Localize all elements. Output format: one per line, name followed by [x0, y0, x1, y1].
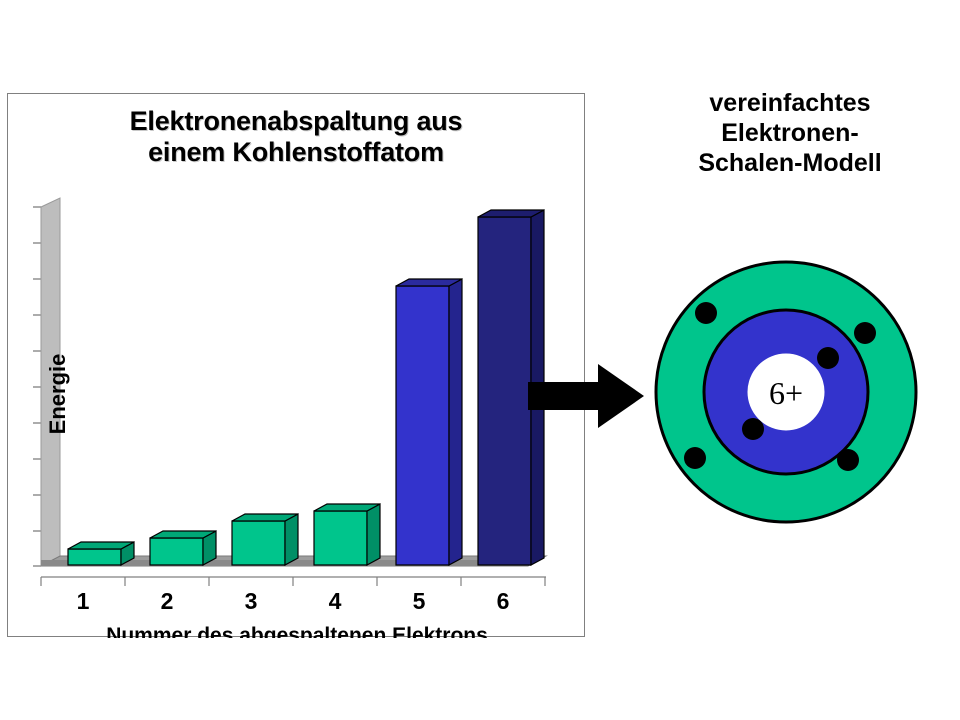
y-axis-label: Energie: [45, 354, 70, 435]
bar-2[interactable]: [150, 531, 216, 565]
chart-panel: Elektronenabspaltung aus einem Kohlensto…: [7, 93, 585, 637]
x-tick-label-5: 5: [413, 588, 426, 614]
bar-1[interactable]: [68, 542, 134, 565]
x-tick-label-3: 3: [245, 588, 258, 614]
right-arrow-icon: [528, 364, 644, 428]
electron-shell-model-diagram: 6+: [652, 258, 920, 526]
x-tick-label-1: 1: [77, 588, 90, 614]
outer-electron-4: [837, 449, 859, 471]
bar-4[interactable]: [314, 504, 380, 565]
x-axis-ticks: [41, 577, 545, 586]
right-panel-title: vereinfachtes Elektronen- Schalen-Modell: [620, 88, 960, 178]
x-tick-label-6: 6: [497, 588, 510, 614]
x-tick-label-4: 4: [329, 588, 342, 614]
x-axis-tick-labels: 1 2 3 4 5 6: [77, 588, 510, 614]
nucleus-charge-label: 6+: [769, 375, 803, 411]
y-axis-ticks: [33, 207, 41, 566]
bar-3[interactable]: [232, 514, 298, 565]
bar-5[interactable]: [396, 279, 462, 565]
inner-electron-2: [742, 418, 764, 440]
outer-electron-3: [684, 447, 706, 469]
outer-electron-2: [854, 322, 876, 344]
x-axis-label: Nummer des abgespaltenen Elektrons: [106, 624, 488, 638]
right-title-line-2: Elektronen-: [620, 118, 960, 148]
right-title-line-3: Schalen-Modell: [620, 148, 960, 178]
outer-electron-1: [695, 302, 717, 324]
inner-electron-1: [817, 347, 839, 369]
bar-chart-plot: Energie: [8, 94, 586, 638]
right-title-line-1: vereinfachtes: [620, 88, 960, 118]
x-tick-label-2: 2: [161, 588, 174, 614]
